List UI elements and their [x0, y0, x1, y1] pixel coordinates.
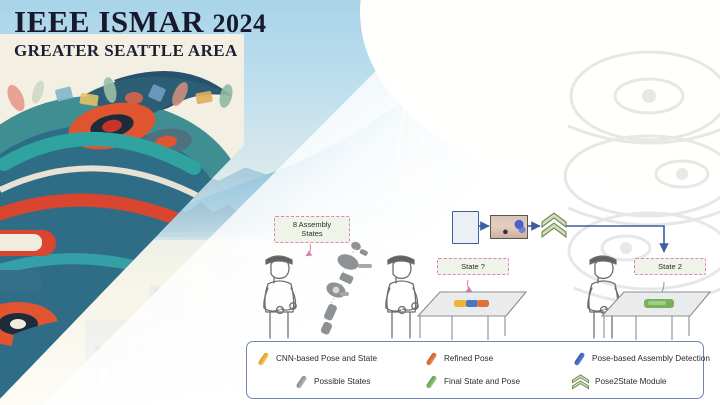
legend-item-pose-based-assembly-detection: Pose-based Assembly Detection — [571, 351, 710, 367]
worker-left-figure — [254, 248, 306, 345]
input-frame-node — [452, 211, 479, 244]
scene-photo-thumbnail — [490, 215, 528, 239]
assembly-parts-cluster — [318, 238, 378, 343]
bar-icon — [255, 351, 271, 367]
label-state-unknown: State ? — [437, 258, 509, 275]
label-state-two: State 2 — [634, 258, 706, 275]
legend-item-cnn-based-pose-and-state: CNN-based Pose and State — [255, 351, 423, 367]
bar-icon — [423, 351, 439, 367]
bar-icon — [571, 351, 587, 367]
bench-parts-right — [644, 299, 674, 308]
bench-parts-middle — [454, 300, 489, 307]
legend-item-pose2state-module: Pose2State Module — [571, 374, 710, 390]
legend-label: Pose-based Assembly Detection — [592, 354, 710, 363]
legend-item-final-state-and-pose: Final State and Pose — [423, 374, 571, 390]
legend-label: Final State and Pose — [444, 377, 520, 386]
legend-item-refined-pose: Refined Pose — [423, 351, 571, 367]
legend-label: CNN-based Pose and State — [276, 354, 377, 363]
label-8-assembly-states: 8 Assembly States — [274, 216, 350, 243]
pose2state-module-node — [540, 211, 568, 247]
legend-label: Possible States — [314, 377, 370, 386]
bar-icon — [293, 374, 309, 390]
legend-label: Pose2State Module — [595, 377, 666, 386]
bar-icon — [423, 374, 439, 390]
legend-item-possible-states: Possible States — [255, 374, 423, 390]
legend-label: Refined Pose — [444, 354, 493, 363]
chevron-stack-icon — [571, 374, 590, 390]
ismar-2024-poster: IEEE ISMAR 2024 GREATER SEATTLE AREA — [0, 0, 720, 405]
legend-panel: CNN-based Pose and State Refined Pose Po… — [246, 341, 704, 399]
